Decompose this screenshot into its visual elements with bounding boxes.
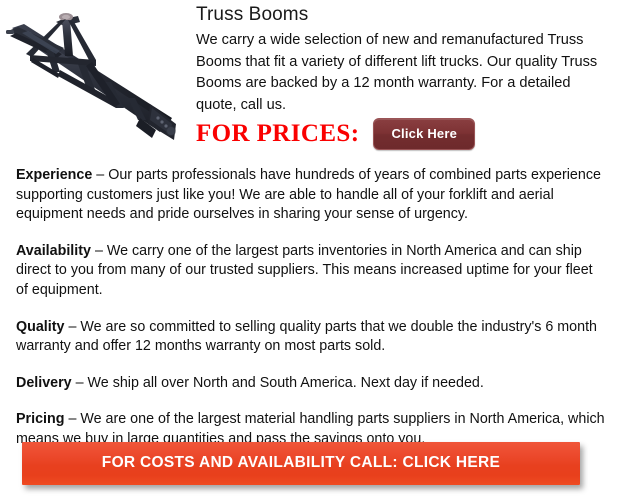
page-title: Truss Booms <box>196 4 608 26</box>
feature-body: We are so committed to selling quality p… <box>16 319 597 355</box>
cta-wrapper: FOR COSTS AND AVAILABILITY CALL: CLICK H… <box>22 442 580 485</box>
for-prices-label: FOR PRICES: <box>196 121 359 147</box>
click-here-button[interactable]: Click Here <box>373 118 475 150</box>
feature-item-availability: Availability – We carry one of the large… <box>16 242 606 301</box>
truss-boom-product-image <box>0 0 186 148</box>
feature-item-quality: Quality – We are so committed to selling… <box>16 318 606 357</box>
truss-boom-illustration <box>0 0 186 148</box>
feature-lead: Delivery <box>16 375 72 391</box>
feature-lead: Experience <box>16 167 92 183</box>
feature-dash: – <box>64 411 80 427</box>
product-description: We carry a wide selection of new and rem… <box>196 30 608 116</box>
feature-lead: Availability <box>16 243 91 259</box>
feature-item-delivery: Delivery – We ship all over North and So… <box>16 374 606 394</box>
feature-body: We ship all over North and South America… <box>88 375 484 391</box>
feature-item-experience: Experience – Our parts professionals hav… <box>16 166 606 225</box>
feature-dash: – <box>72 375 88 391</box>
feature-lead: Quality <box>16 319 64 335</box>
for-prices-row: FOR PRICES: Click Here <box>196 118 475 150</box>
feature-dash: – <box>64 319 80 335</box>
cta-call-button[interactable]: FOR COSTS AND AVAILABILITY CALL: CLICK H… <box>22 442 580 485</box>
feature-lead: Pricing <box>16 411 64 427</box>
product-intro: Truss Booms We carry a wide selection of… <box>196 4 608 116</box>
product-header: Truss Booms We carry a wide selection of… <box>0 0 619 158</box>
feature-dash: – <box>91 243 107 259</box>
feature-dash: – <box>92 167 108 183</box>
feature-list: Experience – Our parts professionals hav… <box>16 166 606 450</box>
